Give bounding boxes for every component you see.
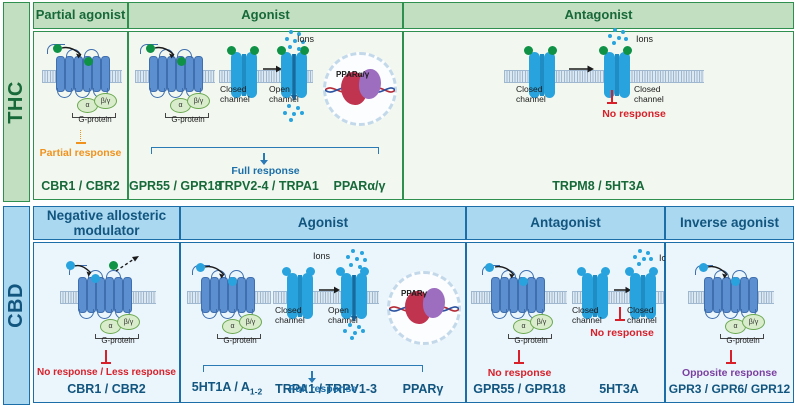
closed-channel-label: Closedchannel [275,305,305,325]
gpcr-receptor [491,277,543,317]
receptor-name: CBR1 / CBR2 [34,179,127,193]
g-protein-label: G-protein [508,336,554,345]
binding-arrow-icon [74,264,96,279]
ions-cluster [631,249,655,267]
header-text: Inverse agonist [680,215,779,230]
shared-response-label: Full response [181,383,465,395]
header-cbd-inverse-agonist[interactable]: Inverse agonist [665,206,794,240]
gpcr-receptor [56,56,108,96]
binding-arrow-icon [204,265,230,281]
g-beta-gamma-label: β/γ [537,319,546,326]
cell-cbd-agonist: α β/γ G-protein 5HT1A / A1-2 Closedchann… [180,242,466,403]
g-beta-gamma-label: β/γ [194,98,203,105]
ions-label: Ions [313,251,330,261]
g-alpha-label: α [521,323,525,330]
ligand-cbd [485,263,494,272]
no-response-inhibit-icon [607,90,617,104]
shared-response-bracket [151,147,379,154]
ligand-cbd [282,267,291,276]
gpcr-receptor [78,277,130,317]
closed-channel-label-2: Closedchannel [634,84,664,104]
binding-arrow-icon [494,265,520,281]
binding-arrow-icon [707,265,733,281]
row-label-cbd: CBD [3,206,30,405]
ligand-thc [548,46,557,55]
header-cbd-nam[interactable]: Negative allosteric modulator [33,206,180,240]
header-text: Antagonist [565,8,633,23]
row-label-thc: THC [3,2,30,202]
header-thc-partial-agonist[interactable]: Partial agonist [33,2,128,29]
ions-label: Ions [636,34,653,44]
receptor-name: GPR3 / GPR6/ GPR12 [666,382,793,396]
g-alpha-label: α [178,102,182,109]
transition-arrow-icon [569,64,595,74]
ions-cluster-top [343,249,369,271]
nucleus-icon [387,271,461,345]
ligand-cbd [649,267,658,276]
ligand-cbd [577,267,586,276]
receptor-name: GPR55 / GPR18 [467,382,572,396]
header-text: Negative allosteric modulator [34,208,179,238]
cell-thc-antagonist: Closedchannel Ions Clo [403,31,794,200]
header-text: Agonist [298,215,348,230]
panel-gpr55-gpr18-antagonist: α β/γ G-protein No response GPR55 / GPR1… [467,243,572,402]
response-label: No response [564,108,704,120]
receptor-name: 5HT3A [572,382,666,396]
g-alpha-label: α [733,323,737,330]
ligand-cbd [306,267,315,276]
panel-trpa1-trpv1-3: Closedchannel Openchannel [273,243,379,402]
displacement-arrow-icon [116,255,142,273]
header-thc-agonist[interactable]: Agonist [128,2,403,29]
panel-ppar-gamma: PPARγ PPARγ [379,243,467,402]
shared-response-label: Full response [129,165,402,177]
ion-flow-arrow-icon [351,275,357,323]
receptor-name: TRPV2-4 / TRPA1 [217,179,315,193]
cbd-grid: Negative allosteric modulator Agonist An… [33,206,794,405]
ion-flow-arrow-icon [291,54,297,102]
g-beta-gamma-label: β/γ [749,319,758,326]
receptor-name: CBR1 / CBR2 [34,382,179,396]
closed-channel-label: Closedchannel [516,84,546,104]
g-protein-label: G-protein [165,115,211,124]
opposite-response-inhibit-icon [726,350,736,364]
receptor-name: TRPM8 / 5HT3A [404,179,793,193]
panel-5ht1a: α β/γ G-protein 5HT1A / A1-2 [181,243,273,402]
g-alpha-label: α [108,323,112,330]
cell-cbd-nam: α β/γ G-protein No response / Less respo… [33,242,180,403]
cell-thc-agonist: α β/γ G-protein GPR55 / GPR18 Closedchan… [128,31,403,200]
response-label: Opposite response [666,367,793,379]
header-text: Antagonist [530,215,601,230]
gpcr-receptor [149,56,201,96]
header-thc-antagonist[interactable]: Antagonist [403,2,794,29]
no-response-inhibit-icon [101,350,111,364]
transition-arrow-icon [263,64,283,74]
g-beta-gamma-label: β/γ [101,98,110,105]
g-protein-label: G-protein [720,336,766,345]
gpcr-receptor [201,277,253,317]
g-beta-gamma-label: β/γ [246,319,255,326]
ligand-thc [599,46,608,55]
response-label: Partial response [34,147,127,159]
nucleus-label: PPARα/γ [336,70,369,79]
binding-arrow-icon [61,46,87,62]
ligand-thc [227,46,236,55]
g-beta-gamma-label: β/γ [124,319,133,326]
g-beta-gamma-subunit: β/γ [94,93,117,109]
ions-cluster [606,28,630,46]
cell-cbd-inverse-agonist: α β/γ G-protein Opposite response GPR3 /… [665,242,794,403]
g-protein-label: G-protein [217,336,263,345]
header-cbd-agonist[interactable]: Agonist [180,206,466,240]
closed-channel-label: Closedchannel [220,84,250,104]
row-label-thc-text: THC [5,81,28,124]
g-beta-gamma-subunit: β/γ [187,93,210,109]
g-beta-gamma-subunit: β/γ [239,314,262,330]
closed-channel-label: Closedchannel [572,305,602,325]
g-alpha-label: α [85,102,89,109]
partial-inhibit-icon [76,130,86,144]
receptor-name: GPR55 / GPR18 [129,179,217,193]
ligand-cbd [625,267,634,276]
ligand-cbd-bound [519,277,528,286]
receptor-name: PPARα/γ [315,179,404,193]
ligand-cbd [601,267,610,276]
panel-5ht3a: Closedchannel [572,243,666,402]
header-text: Partial agonist [36,8,126,23]
g-protein-label: G-protein [72,115,118,124]
row-label-cbd-text: CBD [5,283,28,328]
header-text: Agonist [241,8,289,23]
cell-thc-partial-agonist: α β/γ G-protein Partial response CBR1 / … [33,31,128,200]
ligand-thc [623,46,632,55]
ligand-thc [524,46,533,55]
g-beta-gamma-subunit: β/γ [742,314,765,330]
nucleus-label: PPARγ [401,289,427,298]
g-protein-label: G-protein [95,336,141,345]
nucleus-icon [323,52,397,126]
figure-root: THC Partial agonist Agonist Antagonist [0,0,795,407]
thc-grid: Partial agonist Agonist Antagonist [33,2,794,202]
response-label: No response [467,367,572,379]
header-cbd-antagonist[interactable]: Antagonist [466,206,665,240]
no-response-inhibit-icon [615,307,625,321]
g-beta-gamma-subunit: β/γ [117,314,140,330]
no-response-inhibit-icon [514,350,524,364]
ions-cluster-bottom [283,104,309,122]
binding-arrow-icon [154,46,180,62]
response-label: No response [582,327,662,339]
shared-response-bracket [203,365,423,372]
ions-label: Ions [297,34,314,44]
g-beta-gamma-subunit: β/γ [530,314,553,330]
g-alpha-label: α [230,323,234,330]
response-label: No response / Less response [34,367,179,378]
cell-cbd-antagonist: α β/γ G-protein No response GPR55 / GPR1… [466,242,665,403]
closed-channel-label-2: Closedchannel [627,305,657,325]
gpcr-receptor [704,277,756,317]
ions-cluster-bottom [343,323,369,341]
ligand-thc [250,46,259,55]
transition-arrow-icon [319,285,341,295]
row-thc: THC Partial agonist Agonist Antagonist [0,2,795,202]
row-cbd: CBD Negative allosteric modulator Agonis… [0,206,795,405]
